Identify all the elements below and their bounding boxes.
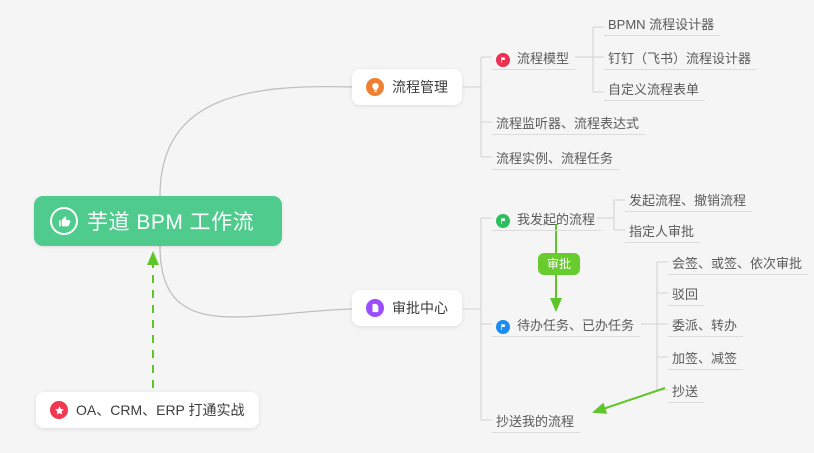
connector-model-children bbox=[575, 27, 604, 92]
document-icon bbox=[366, 299, 384, 317]
thumbs-up-icon bbox=[50, 207, 78, 235]
node-label-cc-to-me: 抄送我的流程 bbox=[496, 411, 574, 430]
root-node[interactable]: 芋道 BPM 工作流 bbox=[34, 196, 282, 246]
flag-icon bbox=[496, 53, 510, 67]
node-label-listener-expression: 流程监听器、流程表达式 bbox=[496, 113, 639, 132]
node-label-reject: 驳回 bbox=[672, 284, 698, 303]
connector-flow-children bbox=[463, 57, 492, 157]
connector-root-to-flow bbox=[160, 87, 352, 196]
approval-annotation-label: 审批 bbox=[547, 257, 571, 271]
branch-label-approval-center: 审批中心 bbox=[392, 298, 448, 318]
node-cc[interactable]: 抄送 bbox=[668, 377, 704, 403]
node-label-my-initiated: 我发起的流程 bbox=[517, 209, 595, 228]
node-label-dingtalk-designer: 钉钉（飞书）流程设计器 bbox=[608, 48, 751, 67]
mindmap-canvas: 芋道 BPM 工作流 流程管理 流程模型 BPMN 流程设计器 钉钉（飞书）流程… bbox=[0, 0, 814, 453]
branch-node-flow-management[interactable]: 流程管理 bbox=[352, 69, 462, 105]
node-reject[interactable]: 驳回 bbox=[668, 280, 704, 306]
node-custom-form[interactable]: 自定义流程表单 bbox=[604, 75, 705, 101]
node-add-remove-sign[interactable]: 加签、减签 bbox=[668, 344, 743, 370]
node-listener-expression[interactable]: 流程监听器、流程表达式 bbox=[492, 109, 645, 135]
node-label-countersign: 会签、或签、依次审批 bbox=[672, 253, 802, 272]
node-label-process-model: 流程模型 bbox=[517, 48, 569, 67]
node-instance-task[interactable]: 流程实例、流程任务 bbox=[492, 144, 619, 170]
node-label-todo-done: 待办任务、已办任务 bbox=[517, 315, 634, 334]
node-label-instance-task: 流程实例、流程任务 bbox=[496, 148, 613, 167]
node-label-bpmn-designer: BPMN 流程设计器 bbox=[608, 14, 714, 33]
node-assignee-approve[interactable]: 指定人审批 bbox=[625, 217, 700, 243]
footnote-label: OA、CRM、ERP 打通实战 bbox=[76, 400, 245, 420]
branch-label-flow-management: 流程管理 bbox=[392, 77, 448, 97]
node-label-assignee-approve: 指定人审批 bbox=[629, 221, 694, 240]
connector-approval-children bbox=[463, 218, 492, 420]
footnote-node-oa-crm-erp[interactable]: OA、CRM、ERP 打通实战 bbox=[36, 392, 259, 428]
node-countersign[interactable]: 会签、或签、依次审批 bbox=[668, 249, 808, 275]
node-label-add-remove-sign: 加签、减签 bbox=[672, 348, 737, 367]
flag-icon bbox=[496, 320, 510, 334]
node-process-model[interactable]: 流程模型 bbox=[492, 44, 575, 70]
connector-initiated-children bbox=[597, 200, 625, 230]
node-todo-done[interactable]: 待办任务、已办任务 bbox=[492, 311, 640, 337]
star-icon bbox=[50, 401, 68, 419]
node-label-delegate: 委派、转办 bbox=[672, 315, 737, 334]
approval-annotation-chip: 审批 bbox=[538, 253, 580, 275]
node-start-cancel[interactable]: 发起流程、撤销流程 bbox=[625, 186, 752, 212]
node-label-cc: 抄送 bbox=[672, 381, 698, 400]
connector-todo-children bbox=[641, 262, 668, 390]
node-dingtalk-designer[interactable]: 钉钉（飞书）流程设计器 bbox=[604, 44, 757, 70]
node-label-start-cancel: 发起流程、撤销流程 bbox=[629, 190, 746, 209]
root-label: 芋道 BPM 工作流 bbox=[87, 206, 254, 236]
node-label-custom-form: 自定义流程表单 bbox=[608, 79, 699, 98]
node-my-initiated[interactable]: 我发起的流程 bbox=[492, 205, 601, 231]
flag-icon bbox=[496, 214, 510, 228]
node-bpmn-designer[interactable]: BPMN 流程设计器 bbox=[604, 10, 720, 36]
lightbulb-icon bbox=[366, 78, 384, 96]
branch-node-approval-center[interactable]: 审批中心 bbox=[352, 290, 462, 326]
connector-root-to-approval bbox=[160, 246, 352, 317]
node-delegate[interactable]: 委派、转办 bbox=[668, 311, 743, 337]
node-cc-to-me[interactable]: 抄送我的流程 bbox=[492, 407, 580, 433]
arrow-cc-to-myflow bbox=[594, 388, 665, 412]
